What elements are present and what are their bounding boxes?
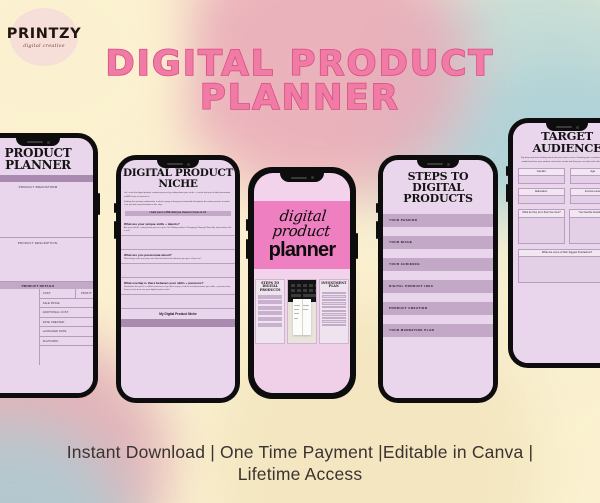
- page-target-audience: TARGET AUDIENCE Dig deep and start think…: [513, 131, 600, 363]
- thumbnail-row: [258, 311, 282, 315]
- step-label: PRODUCT CREATION: [389, 306, 427, 310]
- phone-notch: [280, 173, 324, 182]
- step-item[interactable]: PRODUCT CREATION: [383, 302, 493, 315]
- step-item[interactable]: DIGITAL PRODUCT IDEA: [383, 280, 493, 293]
- field-input[interactable]: [518, 176, 565, 184]
- cover-pink-band: digital product planner: [254, 201, 350, 269]
- question-label: Your favorite brands are?: [569, 209, 600, 218]
- speaker-icon: [556, 126, 572, 128]
- detail-label: SALE PRICE:: [40, 302, 60, 305]
- detail-label: LAUNCHED DATE:: [40, 330, 67, 333]
- niche-question: What are you passionate about?: [121, 250, 235, 258]
- phone-side-button: [506, 184, 508, 202]
- page-product-planner: PRODUCT PLANNER NAME: PRODUCT BRAINSTORM…: [0, 147, 93, 393]
- page-title: DIGITAL PRODUCT PLANNER: [0, 48, 600, 116]
- audience-field: Gender: [518, 168, 565, 184]
- product-planner-title: PRODUCT PLANNER: [0, 147, 93, 171]
- thumbnail-title: INVESTMENT PLAN: [320, 280, 348, 290]
- phone-side-button: [98, 193, 100, 215]
- detail-label-right: PROFIT:: [79, 292, 93, 295]
- phone-notch: [16, 138, 60, 146]
- niche-footer-bar: [121, 319, 235, 327]
- phone-mockup-cover: digital product planner STEPS TO DIGITAL…: [248, 167, 356, 399]
- phone-screen: STEPS TO DIGITAL PRODUCTS YOUR PASSION Y…: [383, 160, 493, 398]
- field-label: Gender: [518, 168, 565, 176]
- phone-mockup-digital-product-niche: DIGITAL PRODUCT NICHE Let's start the di…: [116, 155, 240, 403]
- cover-script-text: digital product: [254, 209, 350, 239]
- niche-question-block: What are your unique skills + talents? A…: [121, 219, 235, 250]
- audience-question: What do they do in their free time?: [518, 209, 565, 244]
- camera-icon: [576, 126, 579, 129]
- audience-question-row: What do they do in their free time? Your…: [513, 204, 600, 244]
- cover-headline: planner: [254, 240, 350, 260]
- step-label: YOUR NICHE: [389, 240, 412, 244]
- phone-mockup-steps: STEPS TO DIGITAL PRODUCTS YOUR PASSION Y…: [378, 155, 498, 403]
- phone-side-button: [376, 203, 378, 213]
- question-input[interactable]: [518, 218, 565, 244]
- phone-notch: [546, 123, 588, 131]
- phone-mockup-target-audience: TARGET AUDIENCE Dig deep and start think…: [508, 118, 600, 368]
- brand-logo: PRINTZY digital creative: [10, 8, 78, 66]
- thumbnail-photo[interactable]: [287, 279, 317, 344]
- steps-title: STEPS TO DIGITAL PRODUCTS: [383, 171, 493, 205]
- phone-side-button: [114, 221, 116, 239]
- audience-intro: Dig deep and start thinking about who yo…: [513, 157, 600, 164]
- page-digital-product-niche: DIGITAL PRODUCT NICHE Let's start the di…: [121, 168, 235, 398]
- detail-row: ADDITIONAL COST:: [40, 308, 93, 318]
- phone-side-button: [246, 219, 248, 231]
- audience-field: Age: [570, 168, 600, 184]
- cover-thumbnails: STEPS TO DIGITAL PRODUCTS: [254, 279, 350, 344]
- brainstorm-section: PRODUCT BRAINSTORM: [0, 182, 93, 238]
- phone-screen: digital product planner STEPS TO DIGITAL…: [254, 173, 350, 393]
- audience-field-row: Education Income Level: [513, 184, 600, 204]
- description-label: PRODUCT DESCRIPTION:: [18, 241, 59, 245]
- step-item[interactable]: YOUR MARKETING PLAN: [383, 324, 493, 337]
- phone-notch: [417, 160, 459, 168]
- footer-text: Instant Download | One Time Payment |Edi…: [40, 442, 560, 485]
- niche-intro-2: Finding the winning combination is what'…: [121, 201, 235, 208]
- niche-title: DIGITAL PRODUCT NICHE: [121, 168, 235, 189]
- field-input[interactable]: [518, 196, 565, 204]
- field-label: Income Level: [570, 188, 600, 196]
- thumbnail-row: [258, 295, 282, 299]
- audience-field: Education: [518, 188, 565, 204]
- niche-answer-field[interactable]: [121, 235, 235, 250]
- page-steps-to-digital-products: STEPS TO DIGITAL PRODUCTS YOUR PASSION Y…: [383, 171, 493, 398]
- step-item[interactable]: YOUR PASSION: [383, 214, 493, 227]
- detail-row: PLATFORM:: [40, 337, 93, 347]
- page-title-line2: PLANNER: [0, 82, 600, 116]
- speaker-icon: [291, 177, 307, 179]
- footer-line1: Instant Download | One Time Payment |Edi…: [67, 442, 467, 462]
- thumbnail-investment-plan[interactable]: INVESTMENT PLAN: [319, 279, 349, 344]
- niche-question-sub: Remember that you're a skilled seamstres…: [121, 286, 235, 294]
- thumbnail-row: [258, 323, 282, 327]
- speaker-icon: [27, 141, 43, 143]
- phone-side-button: [506, 166, 508, 176]
- camera-icon: [187, 163, 190, 166]
- laptop-notebook-photo: [288, 280, 316, 343]
- niche-intro-1: Let's start the digital product creation…: [121, 192, 235, 199]
- phone-side-button: [376, 221, 378, 239]
- detail-label: ADDITIONAL COST:: [40, 311, 69, 314]
- thumbnail-grid: [320, 290, 348, 330]
- niche-question: What overlap is there between your skill…: [121, 278, 235, 286]
- product-details-label: PRODUCT DETAILS: [22, 284, 55, 288]
- cover-spacer: [254, 269, 350, 279]
- step-item[interactable]: YOUR AUDIENCE: [383, 258, 493, 271]
- detail-row: SALE PRICE:: [40, 299, 93, 309]
- phone-side-button: [246, 239, 248, 259]
- cover-bottom-spacer: [254, 344, 350, 393]
- thumbnail-title: STEPS TO DIGITAL PRODUCTS: [256, 280, 284, 293]
- question-input[interactable]: [569, 218, 600, 244]
- phone-screen: TARGET AUDIENCE Dig deep and start think…: [513, 123, 600, 363]
- field-input[interactable]: [570, 196, 600, 204]
- poster-canvas: PRINTZY digital creative DIGITAL PRODUCT…: [0, 0, 600, 503]
- phone-screen: DIGITAL PRODUCT NICHE Let's start the di…: [121, 160, 235, 398]
- camera-icon: [47, 141, 50, 144]
- step-label: YOUR AUDIENCE: [389, 262, 420, 266]
- audience-wide-question: What are some of their biggest frustrati…: [513, 244, 600, 283]
- phone-side-button: [114, 203, 116, 213]
- field-input[interactable]: [570, 176, 600, 184]
- thumbnail-row: [258, 306, 282, 310]
- brainstorm-label: PRODUCT BRAINSTORM: [19, 185, 58, 189]
- phone-notch: [157, 160, 199, 168]
- phone-screen: PRODUCT PLANNER NAME: PRODUCT BRAINSTORM…: [0, 138, 93, 393]
- niche-question: What are your unique skills + talents?: [121, 219, 235, 227]
- detail-rows: COST:PROFIT: SALE PRICE: ADDITIONAL COST…: [40, 289, 93, 365]
- audience-field-row: Gender Age: [513, 164, 600, 184]
- detail-row: COST:PROFIT:: [40, 289, 93, 299]
- niche-footer-label: My Digital Product Niche: [121, 309, 235, 319]
- phone-side-button: [356, 233, 358, 259]
- niche-question-sub: Ask your friends + family know you as a …: [121, 227, 235, 235]
- niche-question-block: What overlap is there between your skill…: [121, 278, 235, 309]
- open-notebook: [293, 299, 312, 336]
- niche-highlight: I want you to LOVE what you choose to fo…: [125, 211, 231, 216]
- detail-row: DATE CREATED:: [40, 318, 93, 328]
- description-section: PRODUCT DESCRIPTION:: [0, 238, 93, 282]
- notes-cell: NOTES:: [0, 289, 40, 365]
- field-label: Education: [518, 188, 565, 196]
- camera-icon: [311, 176, 314, 179]
- thumbnail-row: [258, 317, 282, 321]
- step-label: YOUR PASSION: [389, 218, 417, 222]
- audience-field: Income Level: [570, 188, 600, 204]
- thumbnail-row: [258, 300, 282, 304]
- page-cover: digital product planner STEPS TO DIGITAL…: [254, 173, 350, 393]
- detail-label: PLATFORM:: [40, 340, 59, 343]
- speaker-icon: [167, 163, 183, 165]
- product-details-header: PRODUCT DETAILS: [0, 282, 93, 289]
- step-label: DIGITAL PRODUCT IDEA: [389, 284, 433, 288]
- question-label: What do they do in their free time?: [518, 209, 565, 218]
- detail-label: COST:: [40, 292, 51, 295]
- step-label: YOUR MARKETING PLAN: [389, 328, 434, 332]
- thumbnail-steps[interactable]: STEPS TO DIGITAL PRODUCTS: [255, 279, 285, 344]
- niche-answer-field[interactable]: [121, 294, 235, 309]
- speaker-icon: [427, 163, 443, 165]
- phone-mockup-product-planner: PRODUCT PLANNER NAME: PRODUCT BRAINSTORM…: [0, 133, 98, 398]
- brand-tagline: digital creative: [23, 43, 65, 49]
- details-grid: NOTES: COST:PROFIT: SALE PRICE: ADDITION…: [0, 289, 93, 365]
- niche-question-block: What are you passionate about? What thin…: [121, 250, 235, 278]
- step-item[interactable]: YOUR NICHE: [383, 236, 493, 249]
- question-input[interactable]: [518, 257, 600, 283]
- camera-icon: [447, 163, 450, 166]
- brand-name: PRINTZY: [7, 26, 81, 42]
- niche-answer-field[interactable]: [121, 263, 235, 278]
- question-label: What are some of their biggest frustrati…: [518, 249, 600, 257]
- name-bar: NAME:: [0, 175, 93, 182]
- field-label: Age: [570, 168, 600, 176]
- audience-title: TARGET AUDIENCE: [513, 131, 600, 154]
- audience-question: Your favorite brands are?: [569, 209, 600, 244]
- detail-label: DATE CREATED:: [40, 321, 65, 324]
- detail-row: LAUNCHED DATE:: [40, 327, 93, 337]
